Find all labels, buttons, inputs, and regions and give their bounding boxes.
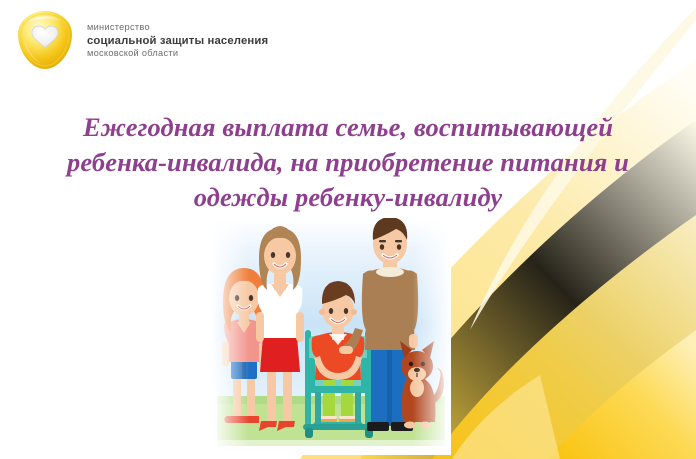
page-title: Ежегодная выплата семье, воспитывающей р…	[30, 110, 666, 216]
page-title-line-3: одежды ребенку-инвалиду	[30, 180, 666, 215]
poster-canvas: министерство социальной защиты населения…	[0, 0, 696, 459]
brand-line-region: московской области	[87, 48, 268, 60]
page-title-line-1: Ежегодная выплата семье, воспитывающей	[30, 110, 666, 145]
brand-line-department: социальной защиты населения	[87, 34, 268, 48]
brand-block: министерство социальной защиты населения…	[14, 8, 268, 72]
family-illustration	[211, 218, 451, 455]
ministry-heart-logo-icon	[14, 8, 76, 72]
brand-text: министерство социальной защиты населения…	[87, 20, 268, 60]
page-title-line-2: ребенка-инвалида, на приобретение питани…	[30, 145, 666, 180]
brand-line-ministry: министерство	[87, 22, 268, 34]
